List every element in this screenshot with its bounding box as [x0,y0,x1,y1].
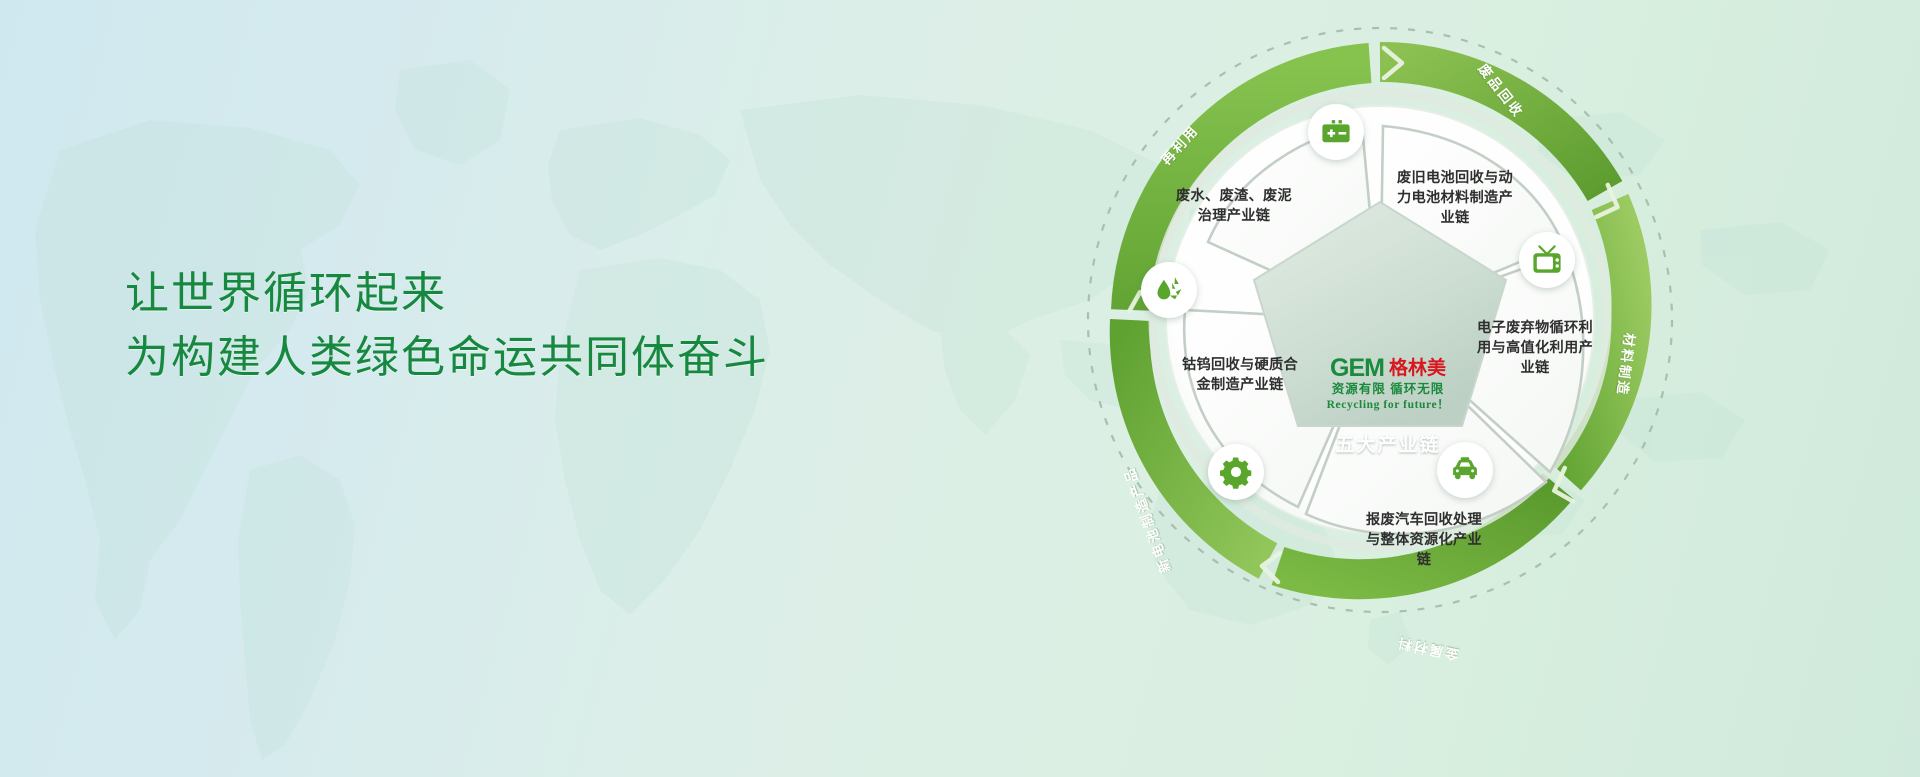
tv-icon-bubble [1519,232,1575,288]
gem-center-logo: GEM 格林美 资源有限 循环无限 Recycling for future！ … [1288,356,1488,457]
car-icon [1448,453,1482,487]
logo-slogan-en: Recycling for future！ [1288,398,1488,413]
logo-mark-row: GEM 格林美 [1288,356,1488,381]
logo-gem-wordmark: GEM [1330,356,1384,381]
battery-icon-bubble [1308,104,1364,160]
car-icon-bubble [1437,442,1493,498]
gear-icon [1219,455,1253,489]
recycle-droplet-icon [1152,273,1186,307]
battery-icon [1319,115,1353,149]
chain-label-waste-water: 废水、废渣、废泥治理产业链 [1172,186,1296,226]
logo-slogan-cn: 资源有限 循环无限 [1288,382,1488,398]
chain-label-cobalt: 钴钨回收与硬质合金制造产业链 [1178,355,1302,395]
recycle-droplet-icon-bubble [1141,262,1197,318]
tv-icon [1530,243,1564,277]
gear-icon-bubble [1208,444,1264,500]
headline-line-2: 为构建人类绿色命运共同体奋斗 [125,326,769,390]
chain-label-battery: 废旧电池回收与动力电池材料制造产业链 [1392,168,1518,228]
headline-line-1: 让世界循环起来 [125,269,447,318]
ring-label-metal-material: 金属材料 [1394,634,1461,667]
headline: 让世界循环起来 为构建人类绿色命运共同体奋斗 [125,262,769,390]
chain-label-e-waste: 电子废弃物循环利用与高值化利用产业链 [1470,318,1600,378]
chain-label-scrap-car: 报废汽车回收处理与整体资源化产业链 [1360,510,1488,570]
logo-chinese-name: 格林美 [1389,359,1446,378]
